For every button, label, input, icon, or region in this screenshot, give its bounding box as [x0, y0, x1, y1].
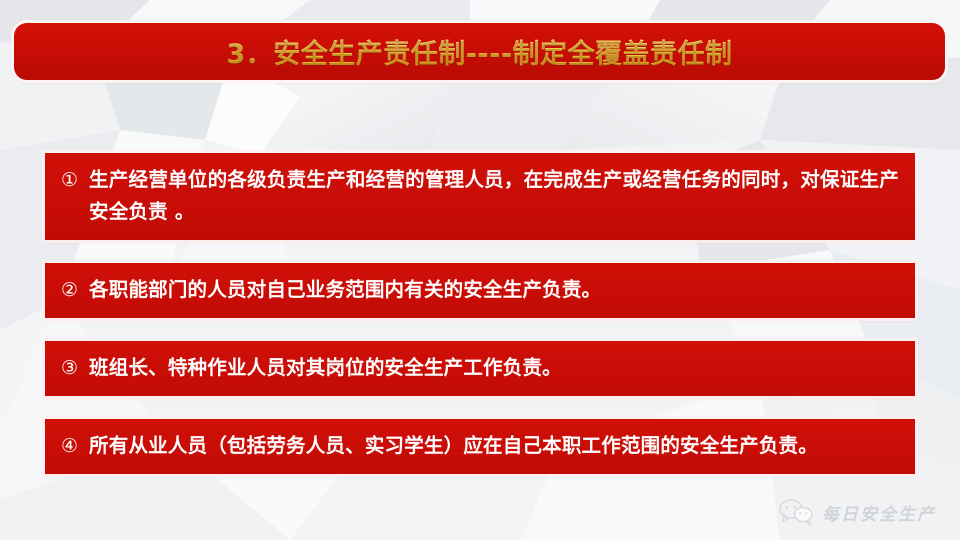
slide-canvas: 3．安全生产责任制----制定全覆盖责任制 ① 生产经营单位的各级负责生产和经营… — [0, 0, 960, 540]
wechat-icon — [779, 498, 813, 526]
list-item: ③ 班组长、特种作业人员对其岗位的安全生产工作负责。 — [45, 341, 915, 396]
list-item-marker: ④ — [61, 430, 78, 462]
list-item-text: 生产经营单位的各级负责生产和经营的管理人员，在完成生产或经营任务的同时，对保证生… — [89, 164, 899, 228]
list-item-text: 各职能部门的人员对自己业务范围内有关的安全生产负责。 — [89, 274, 899, 306]
wechat-account-name: 每日安全生产 — [822, 500, 936, 525]
page-title: 3．安全生产责任制----制定全覆盖责任制 — [226, 32, 732, 71]
slide-title-bar: 3．安全生产责任制----制定全覆盖责任制 — [14, 23, 945, 80]
list-item: ④ 所有从业人员（包括劳务人员、实习学生）应在自己本职工作范围的安全生产负责。 — [45, 419, 915, 474]
wechat-account-footer: 每日安全生产 — [779, 498, 936, 526]
list-item-marker: ① — [61, 164, 78, 196]
list-item-text: 班组长、特种作业人员对其岗位的安全生产工作负责。 — [89, 352, 899, 384]
list-item-marker: ③ — [61, 352, 78, 384]
responsibility-list: ① 生产经营单位的各级负责生产和经营的管理人员，在完成生产或经营任务的同时，对保… — [45, 153, 915, 474]
list-item-marker: ② — [61, 274, 78, 306]
list-item: ① 生产经营单位的各级负责生产和经营的管理人员，在完成生产或经营任务的同时，对保… — [45, 153, 915, 240]
list-item: ② 各职能部门的人员对自己业务范围内有关的安全生产负责。 — [45, 263, 915, 318]
list-item-text: 所有从业人员（包括劳务人员、实习学生）应在自己本职工作范围的安全生产负责。 — [89, 430, 899, 462]
